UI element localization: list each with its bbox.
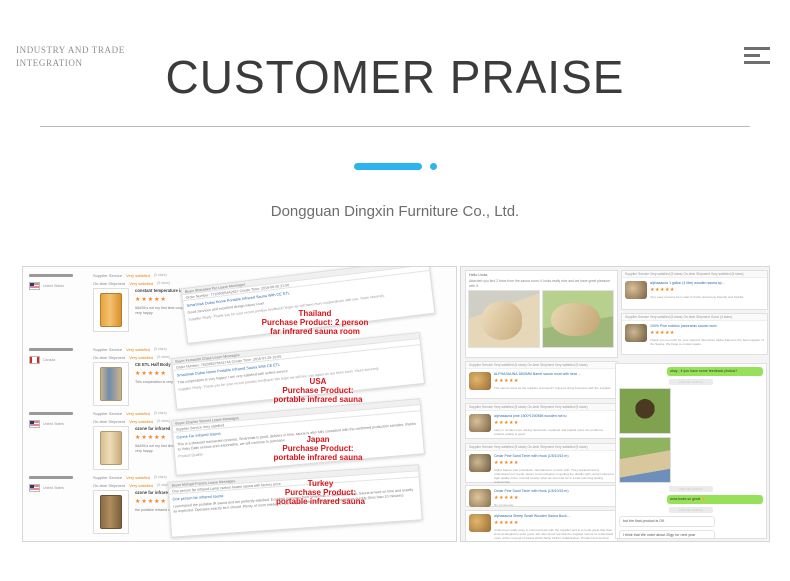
country-label: United States	[43, 422, 64, 426]
barrel-sauna-thumbnail	[469, 414, 491, 432]
star-rating-icon: ★★★★★	[494, 420, 614, 426]
flag-us-icon	[29, 282, 40, 290]
chat-conversation[interactable]: okay , if you have some feedback photos?…	[615, 363, 767, 539]
annotation-country: Turkey	[223, 479, 418, 488]
buyer-name-redacted	[29, 412, 73, 415]
flag-us-icon	[29, 484, 40, 492]
buyer-info: United States	[29, 412, 89, 428]
annotation-product: Purchase Product: portable infrared saun…	[223, 488, 418, 506]
annotation-product: Purchase Product: portable infrared saun…	[223, 444, 413, 462]
shipment-rating: Very satisfied	[129, 419, 153, 424]
product-thumbnail	[93, 426, 129, 470]
customer-email-photos: Hello Linda, Attached you find 2 fotos f…	[465, 270, 618, 358]
review-card-comment: No comments	[494, 503, 614, 507]
side-review-card: Supplier Service Very satisfied (5 stars…	[621, 313, 768, 355]
flag-us-icon	[29, 420, 40, 428]
sauna-bucket-thumbnail	[625, 281, 647, 299]
supplier-service-label: Supplier Service	[93, 411, 122, 416]
barrel-sauna-thumbnail	[469, 489, 491, 507]
supplier-service-label: Supplier Service	[93, 475, 122, 480]
shipment-label: On-time Shipment	[93, 281, 125, 286]
review-card: Supplier Service Very satisfied (5 stars…	[465, 443, 618, 483]
side-review-header: Supplier Service Very satisfied (5 stars…	[622, 314, 767, 321]
annotation-country: Japan	[223, 435, 413, 444]
customer-praise-page: INDUSTRY AND TRADE INTEGRATION CUSTOMER …	[0, 0, 790, 581]
product-thumbnail	[93, 490, 129, 534]
supplier-service-label: Supplier Service	[93, 347, 122, 352]
buyer-info: United States	[29, 476, 89, 492]
carousel-dot-2[interactable]	[430, 163, 437, 170]
country-line: United States	[29, 484, 89, 492]
page-title: CUSTOMER PRAISE	[0, 50, 790, 104]
annotation-thailand: Thailand Purchase Product: 2 person far …	[215, 309, 415, 336]
service-rating-detail: (5 stars)	[154, 475, 167, 480]
shipment-rating: Very satisfied	[129, 281, 153, 286]
annotation-product: Purchase Product: portable infrared saun…	[223, 386, 413, 404]
annotation-country: Thailand	[215, 309, 415, 318]
customer-photos-and-chat-screenshot[interactable]: Hello Linda, Attached you find 2 fotos f…	[460, 266, 770, 542]
chat-image-barrel-sauna-1[interactable]	[619, 388, 671, 434]
side-review-comment: Very easy process from start to finish. …	[650, 295, 764, 299]
star-rating-icon: ★★★★★	[494, 495, 614, 501]
chat-message-outgoing: wow,looks so great 👍	[667, 495, 763, 504]
star-rating-icon: ★★★★★	[650, 287, 764, 293]
review-card-title: alphasauna pine 1500*1000MM wooden hot t…	[494, 414, 614, 418]
review-card: Supplier Service Very satisfied (5 stars…	[465, 403, 618, 439]
side-review-title: 100% Pine outdoor panoramic sauna room	[650, 324, 764, 328]
review-card: Supplier Service Very satisfied (5 stars…	[465, 361, 618, 399]
carousel-dot-active[interactable]	[354, 163, 422, 170]
buyer-name-redacted	[29, 476, 73, 479]
supplier-service-label: Supplier Service	[93, 273, 122, 278]
service-rating-detail: (5 stars)	[154, 347, 167, 352]
header-divider	[40, 126, 750, 127]
chat-timestamp: 2020-06-10 09:24	[669, 379, 713, 385]
barrel-sauna-thumbnail	[469, 454, 491, 472]
side-review-title: alphasauna 1 gallon (4 litre) wooden sau…	[650, 281, 764, 285]
chat-timestamp: 2020-06-10 09:33	[669, 507, 713, 513]
annotation-japan: Japan Purchase Product: portable infrare…	[223, 435, 413, 462]
country-line: United States	[29, 282, 89, 290]
chat-timestamp: 2020-06-10 09:31	[669, 486, 713, 492]
barrel-sauna-indoor-photo	[468, 290, 540, 348]
barrel-sauna-thumbnail	[469, 372, 491, 390]
service-rating: Very satisfied	[126, 411, 150, 416]
review-card-comment: easy to contact even during weekends, re…	[494, 428, 614, 436]
annotation-country: USA	[223, 377, 413, 386]
shipment-rating: Very satisfied	[129, 483, 153, 488]
barrel-sauna-thumbnail	[469, 514, 491, 532]
buyer-name-redacted	[29, 274, 73, 277]
sauna-cabin-image	[100, 431, 122, 465]
star-rating-icon: ★★★★★	[494, 520, 614, 526]
carousel-indicators[interactable]	[0, 163, 790, 170]
service-rating: Very satisfied	[126, 273, 150, 278]
side-review-header: Supplier Service Very satisfied (5 stars…	[622, 271, 767, 278]
annotation-usa: USA Purchase Product: portable infrared …	[223, 377, 413, 404]
country-line: Canada	[29, 356, 89, 364]
product-thumbnail	[93, 288, 129, 332]
review-card-header: Supplier Service Very satisfied (5 stars…	[466, 404, 617, 411]
service-rating: Very satisfied	[126, 475, 150, 480]
shipment-label: On-time Shipment	[93, 419, 125, 424]
side-review-card: Supplier Service Very satisfied (5 stars…	[621, 270, 768, 310]
product-thumbnail	[93, 362, 129, 406]
service-rating-detail: (5 stars)	[154, 411, 167, 416]
sauna-cabin-image	[100, 367, 122, 401]
chat-message-outgoing: okay , if you have some feedback photos?	[667, 367, 763, 376]
review-card-title: Cedar Pine Sand Timer with Hook (1/5/10/…	[494, 489, 614, 493]
alibaba-feedback-screenshot[interactable]: United States Supplier ServiceVery satis…	[22, 266, 457, 542]
annotation-product: Purchase Product: 2 person far infrared …	[215, 318, 415, 336]
service-rating: Very satisfied	[126, 347, 150, 352]
shipment-rating-detail: (5 stars)	[157, 419, 170, 424]
service-rating-detail: (5 stars)	[154, 273, 167, 278]
chat-image-barrel-sauna-2[interactable]	[619, 437, 671, 483]
shipment-label: On-time Shipment	[93, 355, 125, 360]
review-card-header: Supplier Service Very satisfied (5 stars…	[466, 362, 617, 369]
review-card-title: ALPHASAUNA 1800MM Barrel sauna room with…	[494, 372, 614, 376]
star-rating-icon: ★★★★★	[494, 378, 614, 384]
company-name: Dongguan Dingxin Furniture Co., Ltd.	[0, 203, 790, 220]
country-line: United States	[29, 420, 89, 428]
star-rating-icon: ★★★★★	[650, 330, 764, 336]
review-card-comment: The sauna came as the supplier promised!…	[494, 386, 614, 390]
sauna-cabin-image	[100, 495, 122, 529]
side-review-comment: Thank you so much for your support! Shen…	[650, 338, 764, 346]
country-label: Canada	[43, 358, 55, 362]
buyer-info: Canada	[29, 348, 89, 364]
email-greeting: Hello Linda,	[466, 271, 617, 279]
sauna-cabin-image	[100, 293, 122, 327]
testimonial-collage: United States Supplier ServiceVery satis…	[22, 266, 770, 542]
shipment-rating: Very satisfied	[129, 355, 153, 360]
barrel-sauna-garden-photo	[542, 290, 614, 348]
country-label: United States	[43, 284, 64, 288]
shipment-label: On-time Shipment	[93, 483, 125, 488]
email-photo-row	[466, 290, 617, 348]
country-label: United States	[43, 486, 64, 490]
buyer-name-redacted	[29, 348, 73, 351]
star-rating-icon: ★★★★★	[494, 460, 614, 466]
chat-message-incoming: I think that We order about 20gp for nex…	[619, 530, 715, 539]
shipment-rating-detail: (5 stars)	[157, 281, 170, 286]
review-card-title: alphasauna Sheep Small Wooden Sauna Buck…	[494, 514, 614, 518]
annotation-turkey: Turkey Purchase Product: portable infrar…	[223, 479, 418, 506]
flag-ca-icon	[29, 356, 40, 364]
review-card-title: Cedar Pine Sand Timer with Hook (1/5/10/…	[494, 454, 614, 458]
chat-message-incoming: but the final product is OK	[619, 516, 715, 527]
review-card: alphasauna Sheep Small Wooden Sauna Buck…	[465, 510, 618, 542]
review-card-header: Supplier Service Very satisfied (5 stars…	[466, 444, 617, 451]
review-card-comment: Alpha Sauna was a fantastic manufacturer…	[494, 468, 614, 484]
email-body: Attached you find 2 fotos from the sauna…	[466, 279, 617, 290]
shipment-rating-detail: (5 stars)	[157, 355, 170, 360]
barrel-sauna-thumbnail	[625, 324, 647, 342]
buyer-info: United States	[29, 274, 89, 290]
review-card-comment: It has been really easy to communicate w…	[494, 528, 614, 542]
review-card: Cedar Pine Sand Timer with Hook (1/5/10/…	[465, 485, 618, 507]
